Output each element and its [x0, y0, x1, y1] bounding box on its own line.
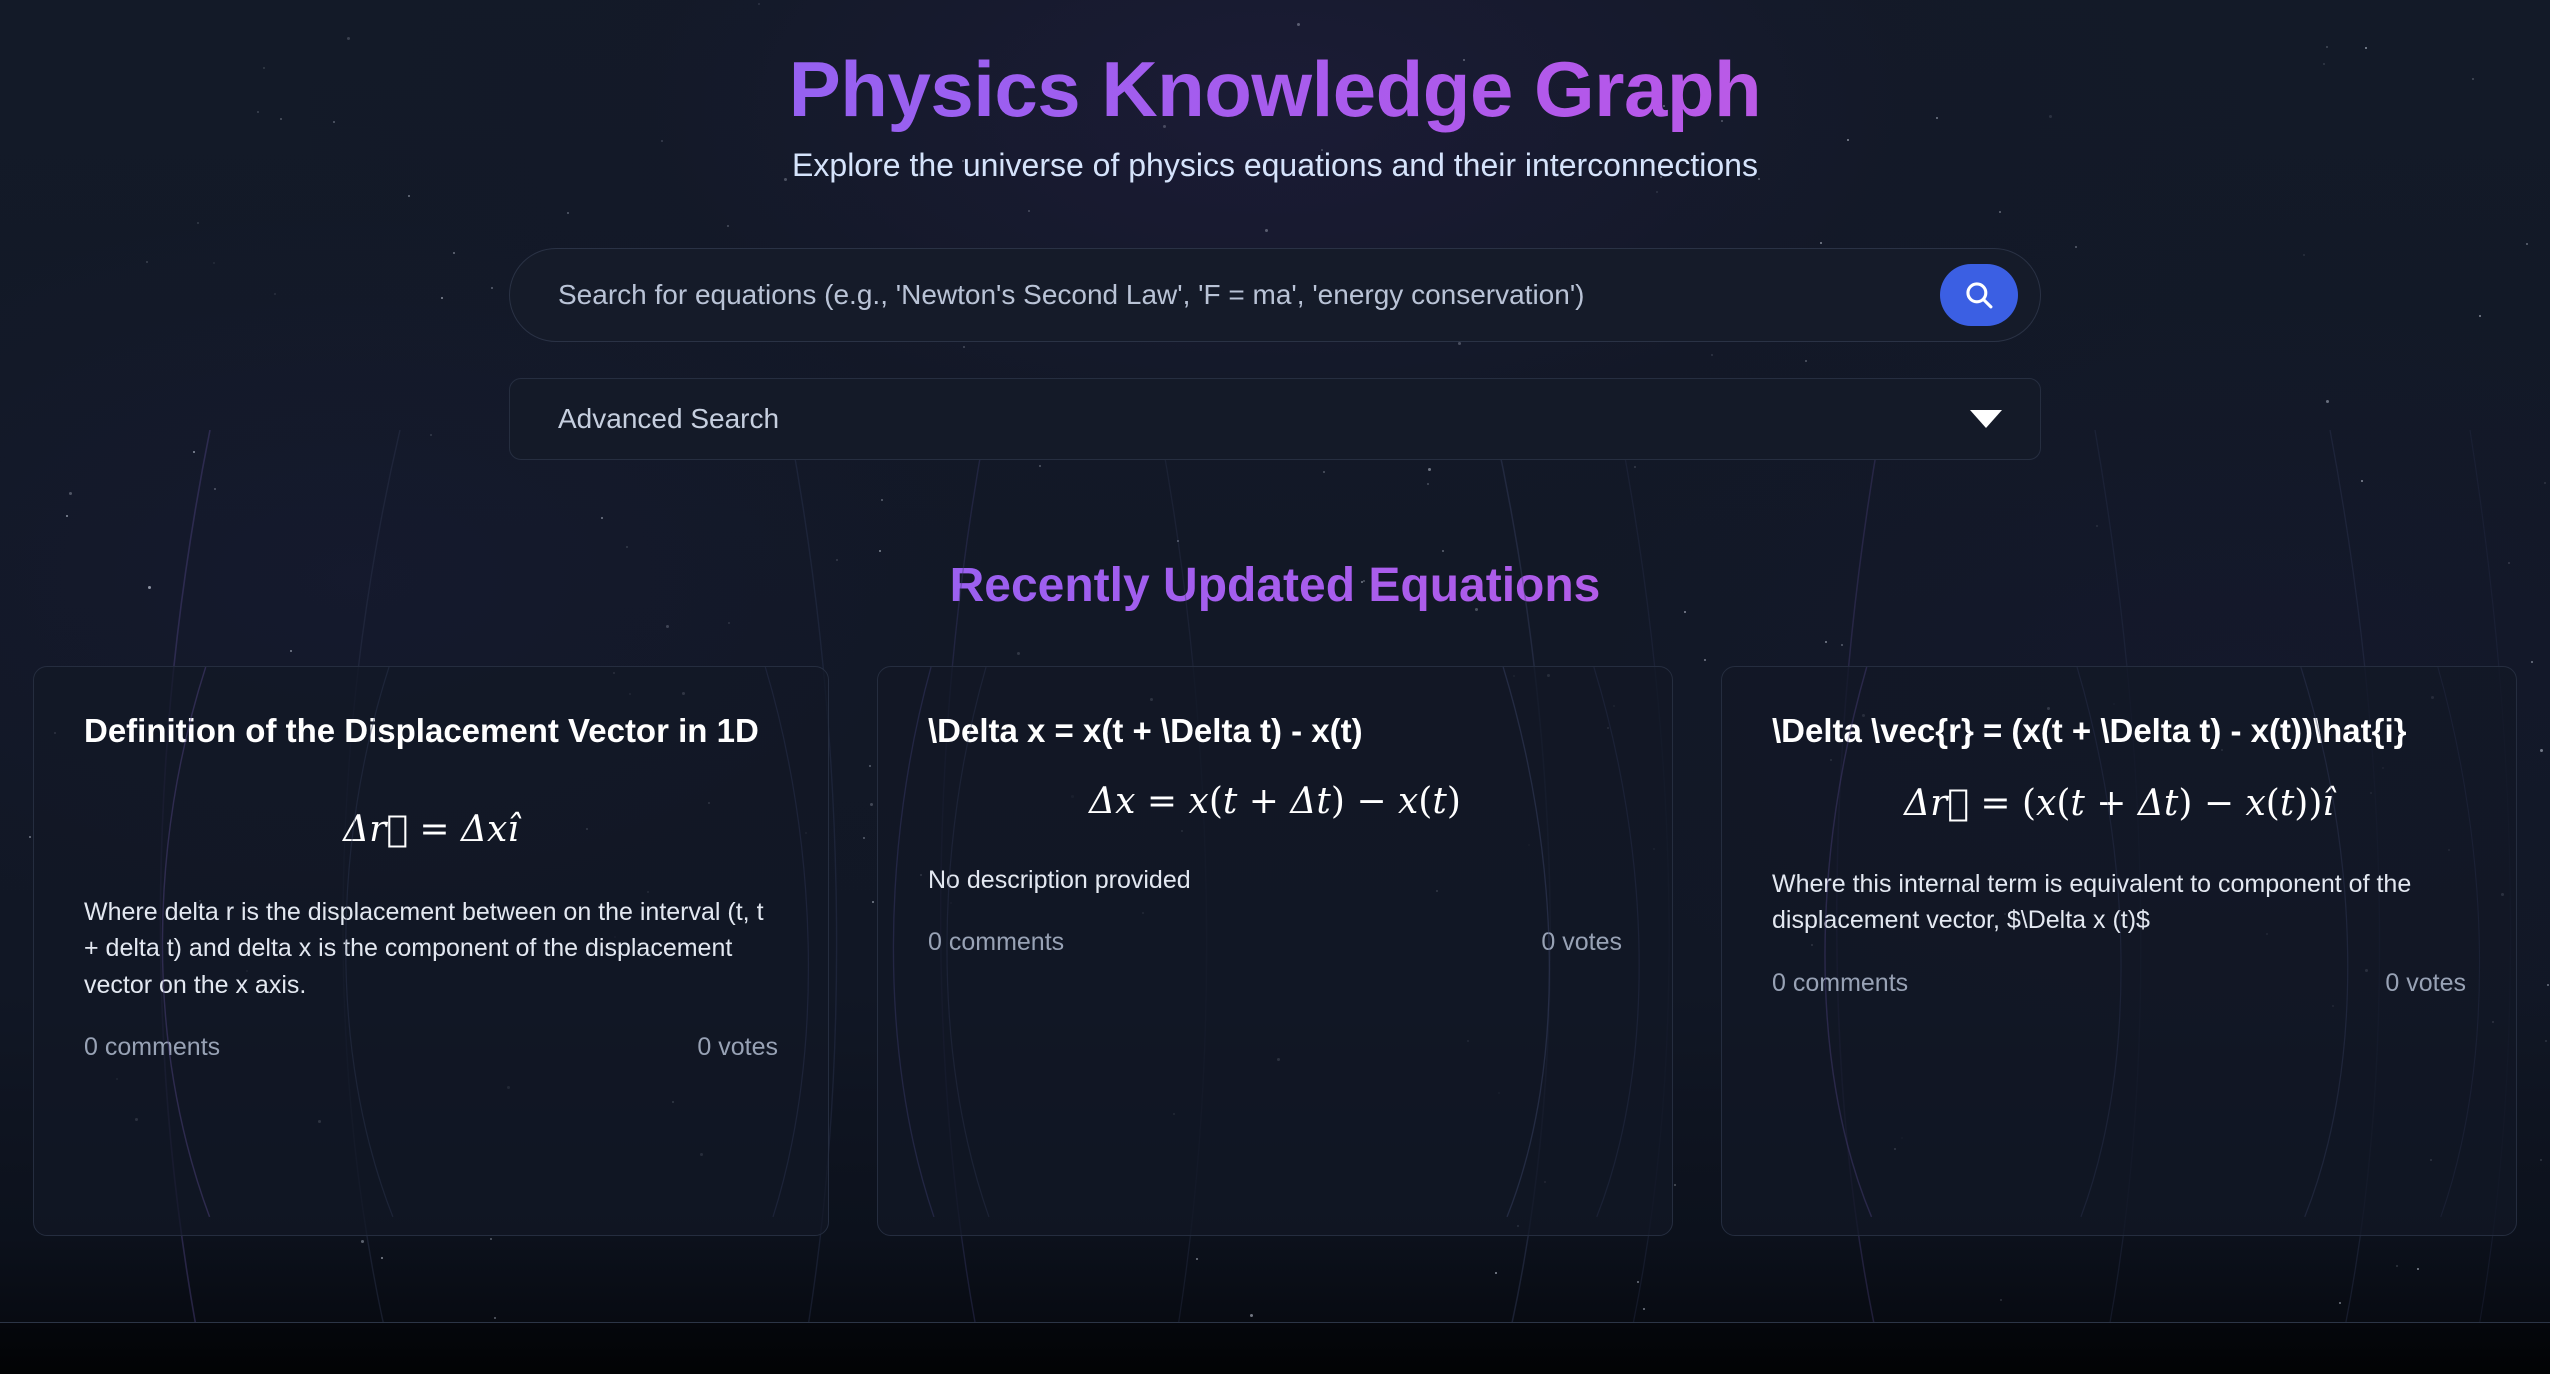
equation-card-formula: Δr⃗ = (x(t + Δt) − x(t))î: [1772, 783, 2466, 824]
search-input[interactable]: [510, 279, 1940, 311]
search-icon: [1962, 278, 1996, 312]
page-root: Physics Knowledge Graph Explore the univ…: [0, 0, 2550, 1374]
equation-card-description: No description provided: [928, 862, 1622, 898]
equation-card-formula: Δx = x(t + Δt) − x(t): [928, 781, 1622, 822]
equation-card-description: Where delta r is the displacement betwee…: [84, 894, 778, 1003]
advanced-search-label: Advanced Search: [558, 403, 779, 435]
page-title: Physics Knowledge Graph: [0, 46, 2550, 133]
equation-card-formula: Δr⃗ = Δxî: [84, 809, 778, 850]
comment-count: 0 comments: [928, 928, 1064, 957]
page-subtitle: Explore the universe of physics equation…: [0, 147, 2550, 184]
equation-card-title: \Delta x = x(t + \Delta t) - x(t): [928, 709, 1622, 753]
page-bottom-fade: [0, 1323, 2550, 1374]
equation-card[interactable]: \Delta \vec{r} = (x(t + \Delta t) - x(t)…: [1721, 666, 2517, 1236]
vote-count: 0 votes: [2385, 969, 2466, 998]
equation-card-meta: 0 comments 0 votes: [1772, 969, 2466, 998]
equation-card-meta: 0 comments 0 votes: [928, 928, 1622, 957]
chevron-down-icon: [1970, 410, 2002, 428]
comment-count: 0 comments: [1772, 969, 1908, 998]
section-title: Recently Updated Equations: [0, 558, 2550, 613]
equation-card-title: Definition of the Displacement Vector in…: [84, 709, 778, 753]
comment-count: 0 comments: [84, 1033, 220, 1062]
equation-card-meta: 0 comments 0 votes: [84, 1033, 778, 1062]
search-section: Advanced Search: [509, 248, 2041, 460]
search-bar: [509, 248, 2041, 342]
search-submit-button[interactable]: [1940, 264, 2018, 326]
equation-card-description: Where this internal term is equivalent t…: [1772, 866, 2466, 939]
equation-card-title: \Delta \vec{r} = (x(t + \Delta t) - x(t)…: [1772, 709, 2466, 753]
equation-card[interactable]: \Delta x = x(t + \Delta t) - x(t) Δx = x…: [877, 666, 1673, 1236]
equation-card-grid: Definition of the Displacement Vector in…: [0, 666, 2550, 1236]
hero-section: Physics Knowledge Graph Explore the univ…: [0, 0, 2550, 184]
advanced-search-toggle[interactable]: Advanced Search: [509, 378, 2041, 460]
vote-count: 0 votes: [697, 1033, 778, 1062]
equation-card[interactable]: Definition of the Displacement Vector in…: [33, 666, 829, 1236]
vote-count: 0 votes: [1541, 928, 1622, 957]
